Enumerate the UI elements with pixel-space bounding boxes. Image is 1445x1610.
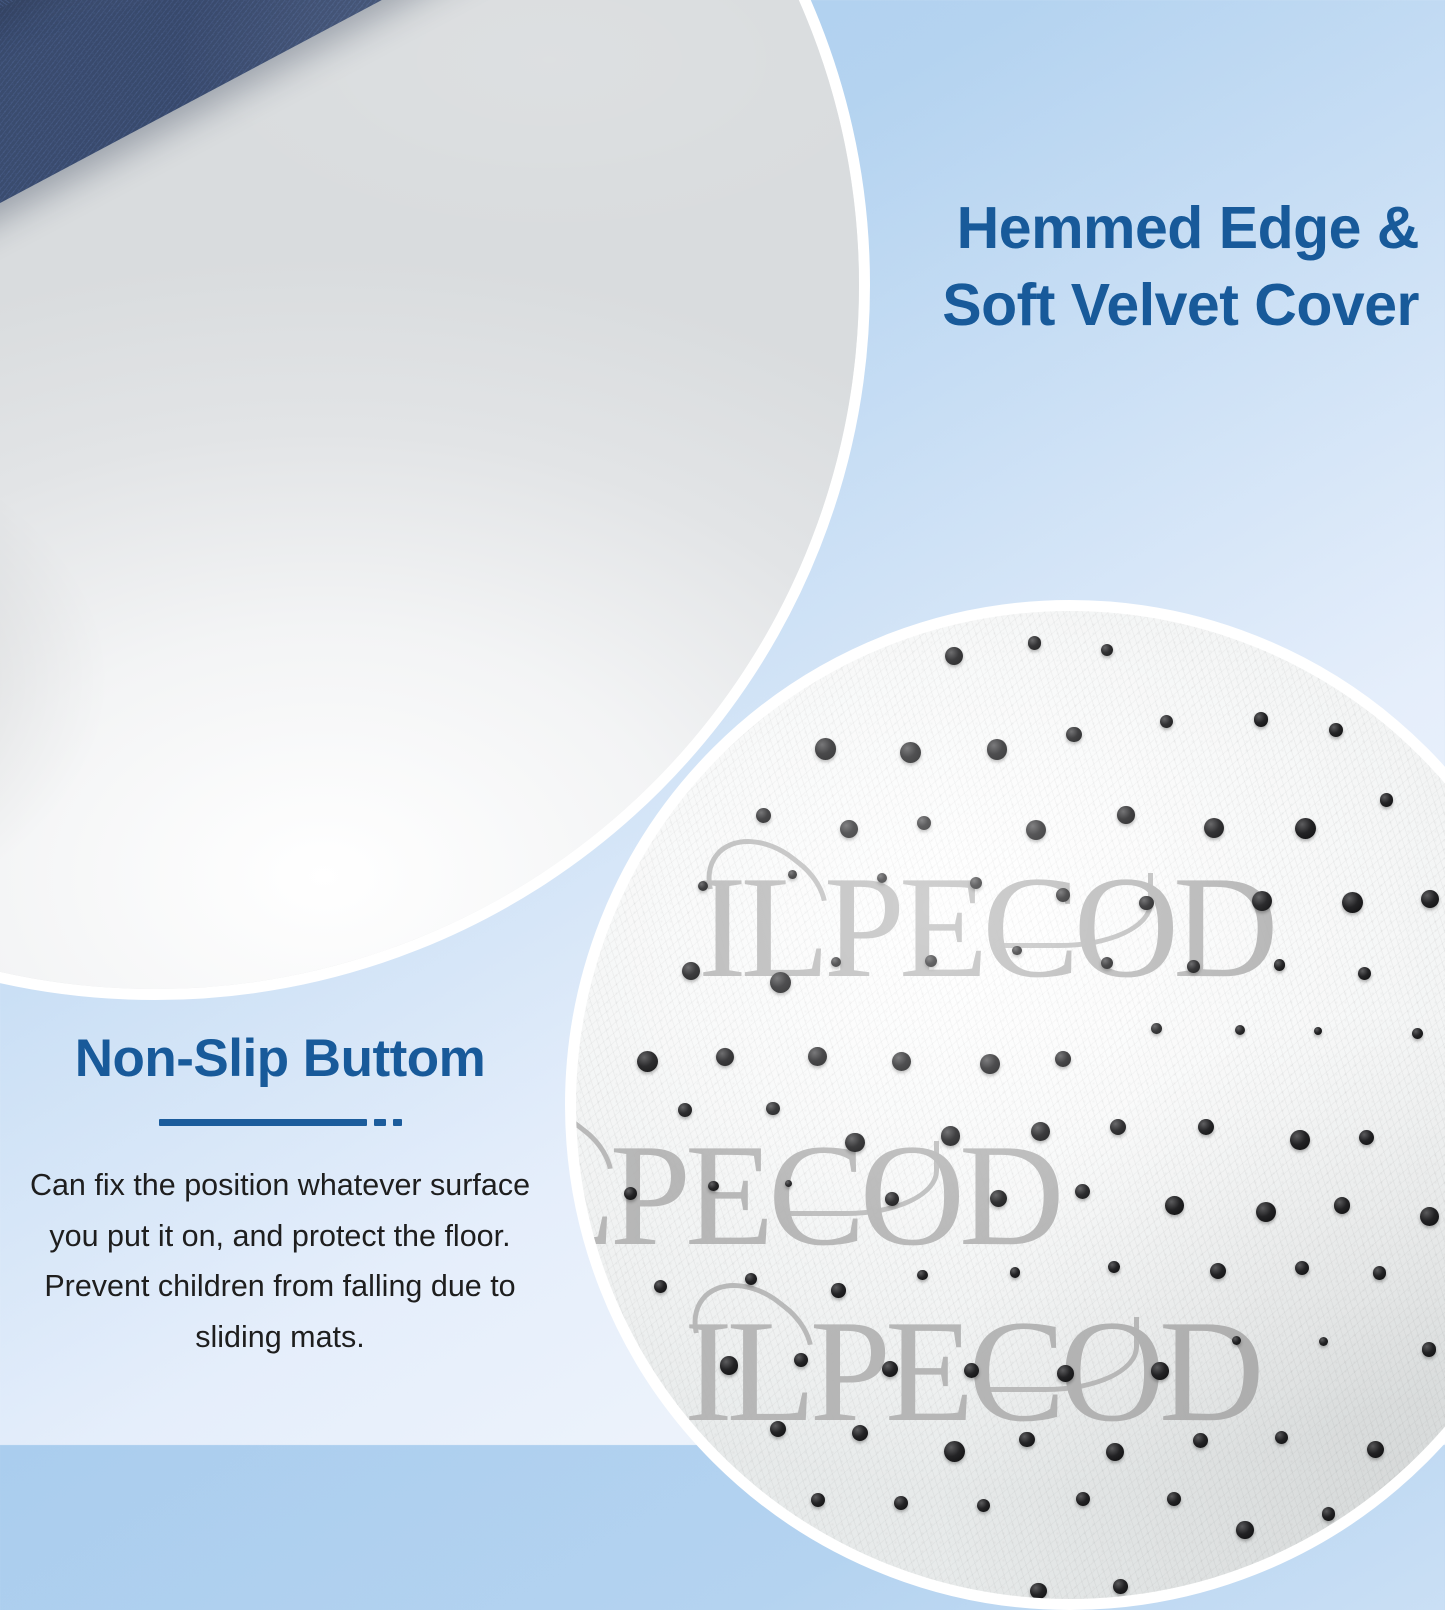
- anti-slip-dot: [716, 1048, 734, 1066]
- anti-slip-dot: [845, 1133, 864, 1152]
- anti-slip-dot: [1165, 1196, 1184, 1215]
- anti-slip-dot: [1421, 890, 1439, 908]
- anti-slip-dot: [624, 1187, 637, 1200]
- feature-block: Non-Slip Buttom Can fix the position wha…: [0, 1028, 560, 1363]
- anti-slip-dot: [1236, 1521, 1254, 1539]
- divider-pip: [374, 1119, 386, 1126]
- anti-slip-dot: [1329, 723, 1343, 737]
- anti-slip-dot: [987, 739, 1008, 760]
- anti-slip-dot: [1290, 1130, 1310, 1150]
- anti-slip-dot: [720, 1356, 738, 1374]
- anti-slip-dot: [708, 1181, 719, 1192]
- anti-slip-dot: [894, 1496, 908, 1510]
- anti-slip-dot: [1057, 1365, 1074, 1382]
- anti-slip-dot: [1373, 1266, 1387, 1280]
- anti-slip-dot: [1056, 888, 1070, 902]
- anti-slip-dot: [831, 1283, 845, 1297]
- anti-slip-dot: [1010, 1267, 1021, 1278]
- anti-slip-dot: [1422, 1342, 1436, 1356]
- anti-slip-dot: [852, 1425, 868, 1441]
- anti-slip-dot: [1380, 793, 1394, 807]
- anti-slip-dot: [917, 1270, 927, 1280]
- anti-slip-dot: [900, 742, 922, 764]
- anti-slip-dot: [1106, 1443, 1124, 1461]
- anti-slip-dot: [1232, 1336, 1241, 1345]
- anti-slip-dot: [1066, 727, 1082, 743]
- anti-slip-dot: [1108, 1261, 1120, 1273]
- anti-slip-dot: [808, 1047, 827, 1066]
- anti-slip-dot: [1359, 1130, 1374, 1145]
- anti-slip-dot: [1151, 1023, 1162, 1034]
- anti-slip-dot: [1101, 957, 1113, 969]
- anti-slip-dot: [766, 1102, 780, 1116]
- anti-slip-dot: [1274, 959, 1286, 971]
- non-slip-mat-photo: ILPECOD ILPECOD ILPECOD: [565, 600, 1445, 1610]
- feature-body: Can fix the position whatever surface yo…: [0, 1160, 560, 1363]
- anti-slip-dot: [941, 1126, 961, 1146]
- headline-line-2: Soft Velvet Cover: [942, 267, 1419, 344]
- anti-slip-dot: [1139, 896, 1154, 911]
- feature-divider: [0, 1119, 560, 1126]
- anti-slip-dot: [964, 1363, 979, 1378]
- divider-bar: [159, 1119, 367, 1126]
- anti-slip-dot: [840, 820, 858, 838]
- anti-slip-dot: [1055, 1051, 1071, 1067]
- anti-slip-dot: [1198, 1119, 1214, 1135]
- anti-slip-dot: [980, 1054, 1000, 1074]
- anti-slip-dot: [1235, 1025, 1245, 1035]
- anti-slip-dot: [1076, 1492, 1090, 1506]
- divider-pip: [393, 1119, 402, 1126]
- anti-slip-dot: [1187, 960, 1200, 973]
- anti-slip-dot: [1113, 1579, 1128, 1594]
- anti-slip-dot: [1412, 1028, 1423, 1039]
- anti-slip-dot: [1012, 946, 1021, 955]
- anti-slip-dot: [885, 1192, 899, 1206]
- anti-slip-dot: [1254, 712, 1269, 727]
- anti-slip-dot: [1030, 1583, 1047, 1600]
- headline-line-1: Hemmed Edge &: [942, 190, 1419, 267]
- anti-slip-dot: [1358, 967, 1371, 980]
- anti-slip-dot: [1028, 636, 1042, 650]
- anti-slip-dot: [970, 877, 982, 889]
- anti-slip-dot: [1075, 1184, 1090, 1199]
- anti-slip-dot: [1031, 1122, 1050, 1141]
- headline: Hemmed Edge & Soft Velvet Cover: [942, 190, 1419, 343]
- anti-slip-dot: [1204, 818, 1224, 838]
- anti-slip-dot: [770, 1421, 786, 1437]
- anti-slip-dot: [1151, 1362, 1169, 1380]
- anti-slip-dot: [1295, 818, 1316, 839]
- anti-slip-dot: [637, 1051, 658, 1072]
- anti-slip-dot: [794, 1353, 808, 1367]
- brand-watermark: ILPECOD: [565, 1111, 1058, 1279]
- feature-title: Non-Slip Buttom: [0, 1028, 560, 1089]
- anti-slip-dot: [1322, 1507, 1336, 1521]
- anti-slip-dot: [1117, 806, 1135, 824]
- anti-slip-dot: [678, 1103, 692, 1117]
- anti-slip-dot: [811, 1493, 825, 1507]
- anti-slip-dot: [654, 1280, 667, 1293]
- anti-slip-dot: [1101, 644, 1113, 656]
- anti-slip-dot: [815, 738, 837, 760]
- anti-slip-dot: [917, 816, 931, 830]
- anti-slip-dot: [892, 1052, 911, 1071]
